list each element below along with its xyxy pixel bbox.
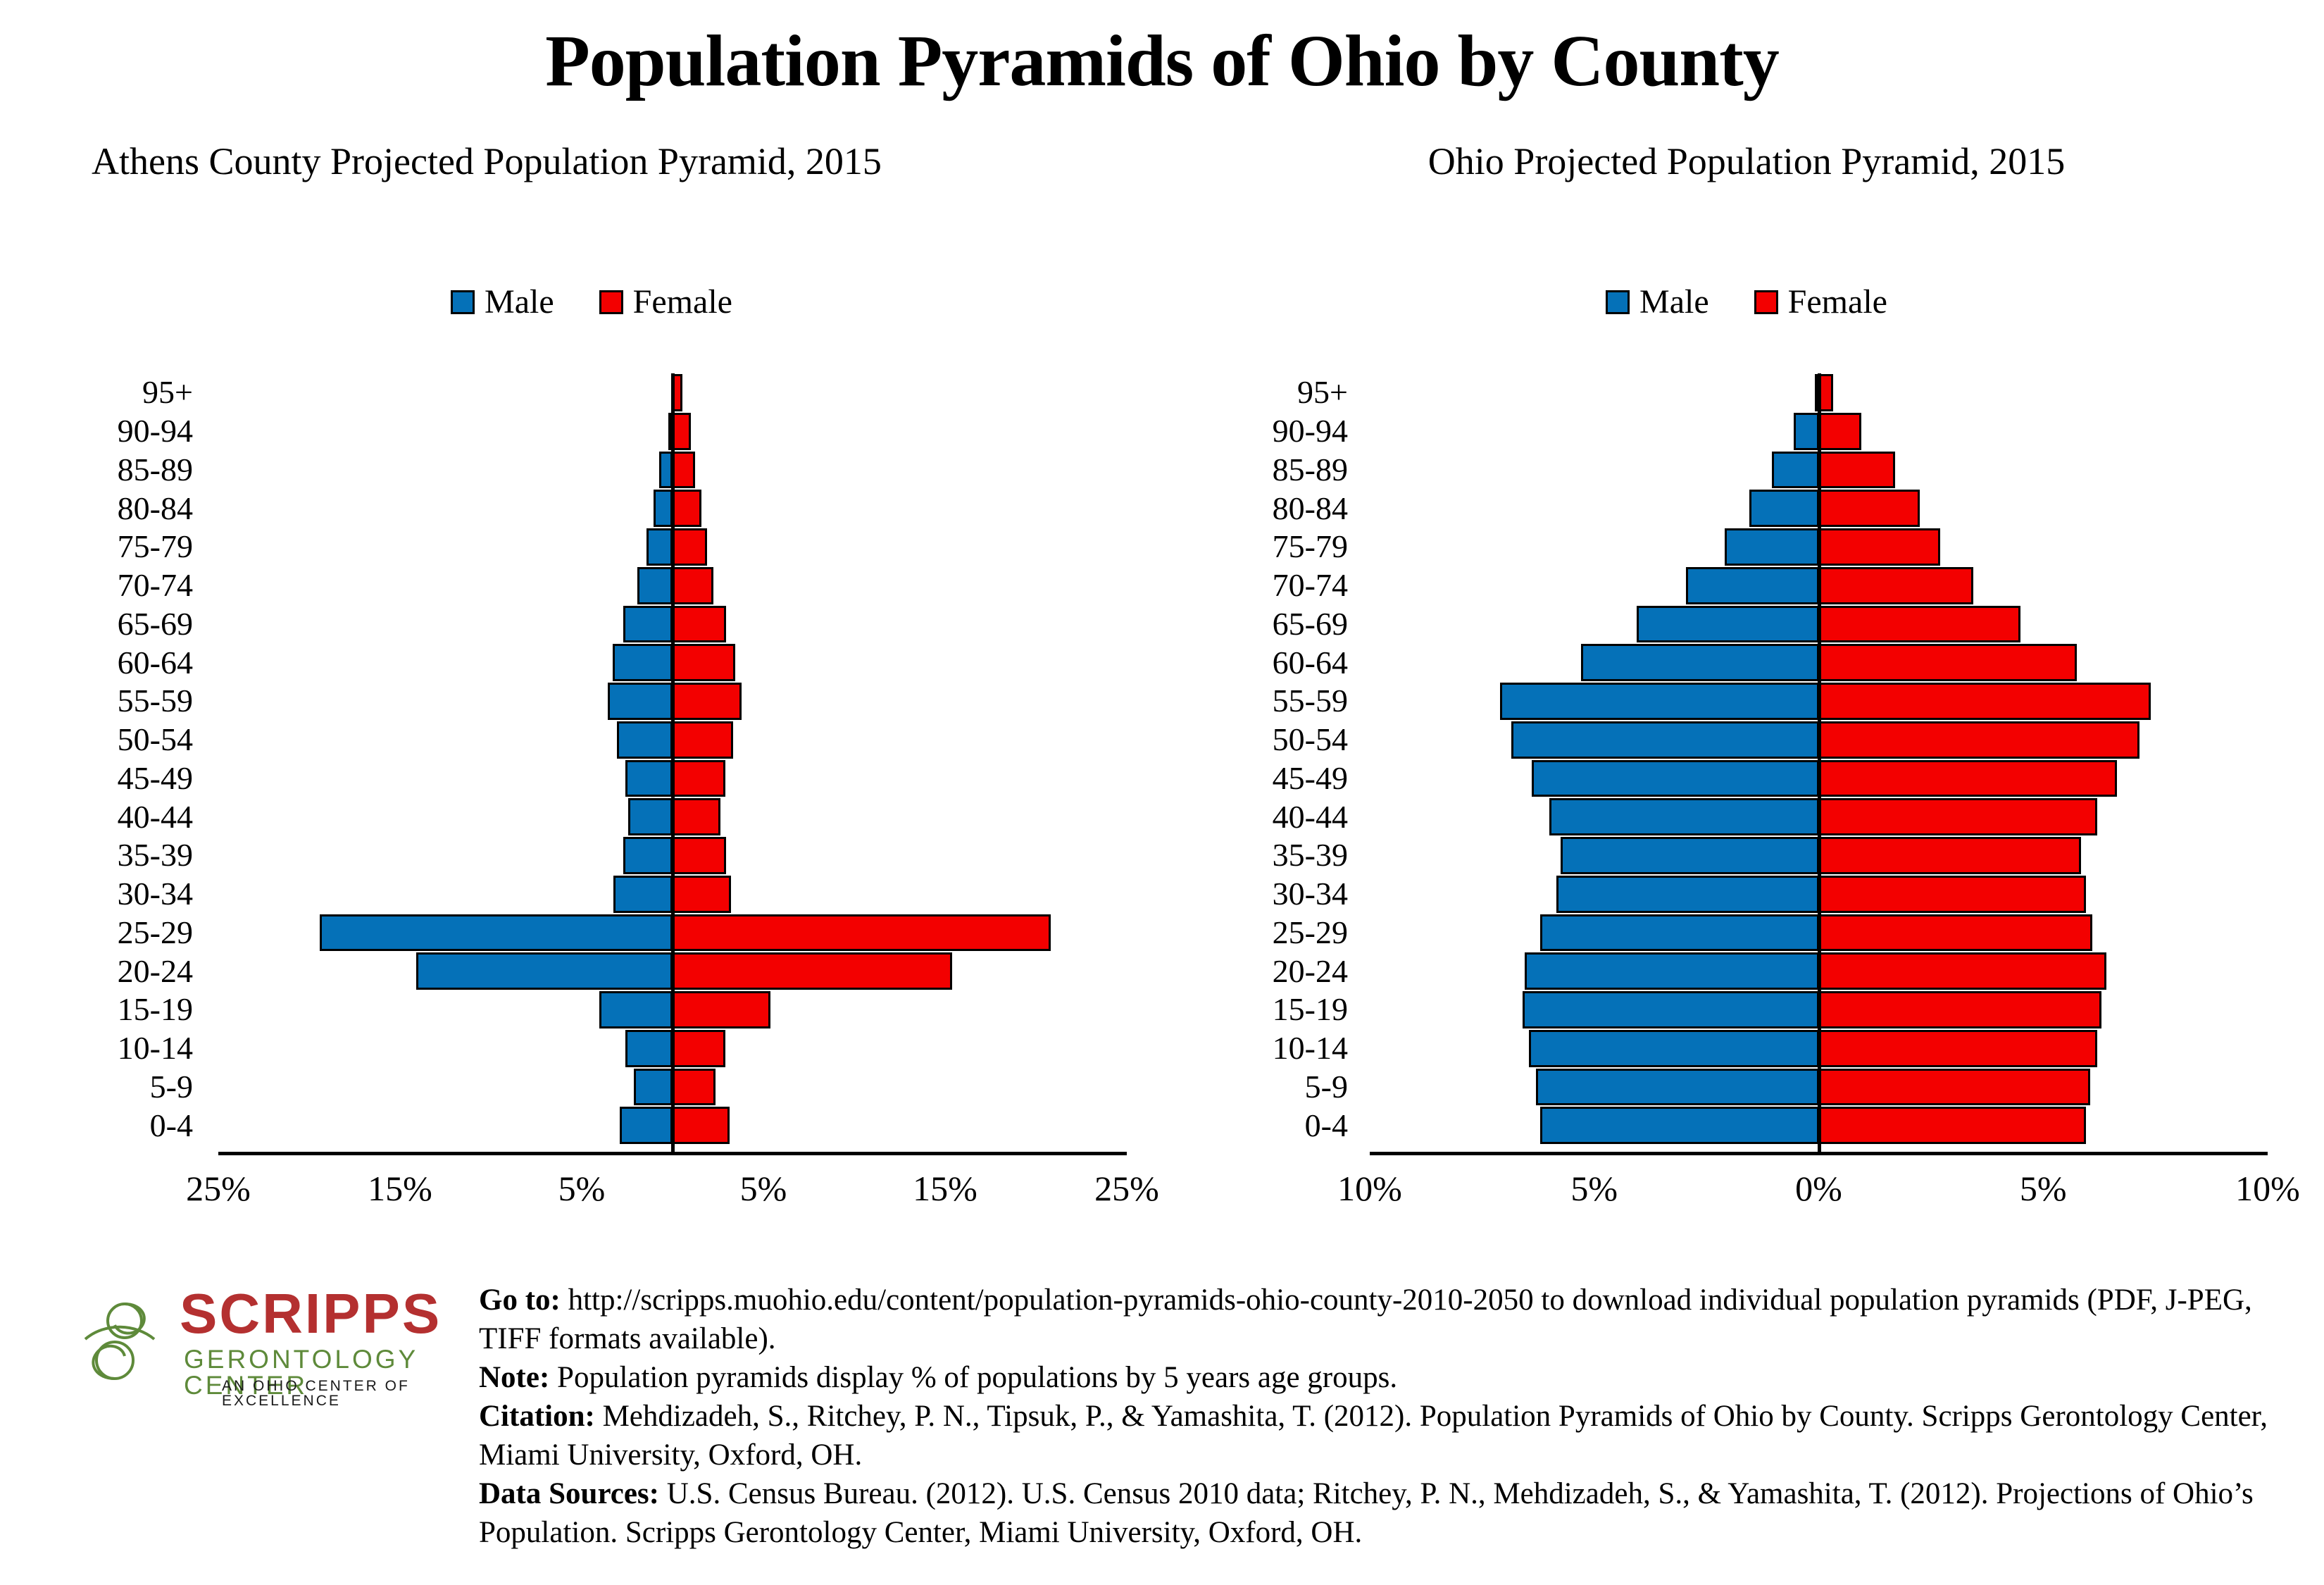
bar-female[interactable] (673, 1107, 730, 1144)
bar-female[interactable] (673, 413, 691, 450)
bar-male[interactable] (1536, 1069, 1819, 1106)
legend-label-female: Female (1788, 285, 1887, 319)
age-label: 25-29 (1211, 914, 1359, 952)
x-tick-label: 15% (913, 1171, 977, 1206)
bar-male[interactable] (599, 991, 673, 1028)
age-label: 45-49 (1211, 759, 1359, 798)
bar-female[interactable] (1819, 837, 2082, 874)
x-tick-label: 5% (740, 1171, 787, 1206)
age-label: 75-79 (56, 528, 204, 566)
age-label: 85-89 (1211, 451, 1359, 490)
bar-male[interactable] (654, 490, 673, 527)
legend-label-male: Male (1639, 285, 1709, 319)
legend-swatch-female-icon (1754, 290, 1778, 314)
bar-female[interactable] (1819, 1107, 2086, 1144)
plot-area-athens (218, 373, 1127, 1155)
bar-female[interactable] (673, 991, 770, 1028)
bar-female[interactable] (673, 876, 731, 913)
legend-label-male: Male (485, 285, 554, 319)
age-label: 55-59 (1211, 682, 1359, 721)
bar-male[interactable] (637, 567, 673, 604)
bar-female[interactable] (1819, 798, 2097, 835)
x-tick-label: 0% (1795, 1171, 1842, 1206)
bar-male[interactable] (628, 798, 673, 835)
age-label: 5-9 (56, 1068, 204, 1107)
note-label: Note: (479, 1361, 549, 1394)
bar-female[interactable] (1819, 952, 2106, 990)
bar-male[interactable] (1772, 452, 1819, 489)
datasources-text: U.S. Census Bureau. (2012). U.S. Census … (479, 1477, 2254, 1549)
center-axis-line-ohio (1818, 373, 1821, 1152)
age-label: 70-74 (1211, 566, 1359, 605)
citation-text: Mehdizadeh, S., Ritchey, P. N., Tipsuk, … (479, 1400, 2268, 1472)
bar-female[interactable] (1819, 606, 2021, 643)
age-label: 50-54 (56, 721, 204, 759)
age-label: 95+ (1211, 373, 1359, 412)
bar-male[interactable] (646, 528, 673, 566)
bar-female[interactable] (1819, 528, 1940, 566)
age-label: 60-64 (1211, 643, 1359, 682)
age-label: 50-54 (1211, 721, 1359, 759)
bar-female[interactable] (673, 606, 726, 643)
x-tick-label: 15% (368, 1171, 432, 1206)
age-label: 70-74 (56, 566, 204, 605)
bar-female[interactable] (673, 683, 742, 720)
baseline-athens (218, 1152, 1127, 1155)
bar-female[interactable] (1819, 644, 2078, 681)
age-label: 65-69 (56, 605, 204, 644)
datasources-line: Data Sources: U.S. Census Bureau. (2012)… (479, 1474, 2282, 1552)
bar-female[interactable] (673, 721, 733, 759)
x-tick-label: 5% (1570, 1171, 1618, 1206)
x-tick-label: 25% (1094, 1171, 1159, 1206)
age-label: 30-34 (56, 875, 204, 914)
goto-label: Go to: (479, 1283, 561, 1317)
page-title: Population Pyramids of Ohio by County (0, 21, 2324, 101)
chart-panel-athens: Athens County Projected Population Pyram… (42, 141, 1141, 1282)
age-label: 75-79 (1211, 528, 1359, 566)
baseline-ohio (1370, 1152, 2268, 1155)
bar-male[interactable] (613, 876, 673, 913)
age-label: 40-44 (1211, 797, 1359, 836)
bar-male[interactable] (1540, 914, 1818, 952)
age-label: 35-39 (56, 836, 204, 875)
bar-male[interactable] (1532, 760, 1819, 797)
bar-male[interactable] (634, 1069, 673, 1106)
legend-swatch-female-icon (599, 290, 623, 314)
bar-male[interactable] (617, 721, 673, 759)
bar-male[interactable] (1549, 798, 1819, 835)
bar-female[interactable] (673, 952, 952, 990)
scripps-wordmark: SCRIPPS (180, 1286, 442, 1342)
bar-male[interactable] (625, 760, 673, 797)
age-label: 20-24 (56, 952, 204, 990)
legend-ohio: Male Female (1197, 285, 2296, 319)
x-tick-label: 25% (186, 1171, 251, 1206)
scripps-tagline: AN OHIO CENTER OF EXCELLENCE (222, 1379, 461, 1408)
bar-male[interactable] (1529, 1030, 1818, 1067)
citation-label: Citation: (479, 1400, 595, 1433)
x-tick-label: 5% (2020, 1171, 2067, 1206)
bar-male[interactable] (1581, 644, 1819, 681)
legend-item-female[interactable]: Female (1754, 285, 1887, 319)
age-label: 40-44 (56, 797, 204, 836)
footer: SCRIPPS GERONTOLOGY CENTER AN OHIO CENTE… (0, 1268, 2324, 1585)
bar-female[interactable] (673, 528, 707, 566)
bar-male[interactable] (1561, 837, 1819, 874)
legend-swatch-male-icon (1606, 290, 1630, 314)
bar-female[interactable] (673, 452, 695, 489)
bar-male[interactable] (1794, 413, 1818, 450)
bar-female[interactable] (1819, 413, 1862, 450)
bar-female[interactable] (673, 914, 1051, 952)
bar-female[interactable] (1819, 991, 2102, 1028)
bar-female[interactable] (1819, 683, 2151, 720)
bar-male[interactable] (1511, 721, 1819, 759)
bar-female[interactable] (1819, 876, 2086, 913)
goto-text[interactable]: http://scripps.muohio.edu/content/popula… (479, 1283, 2252, 1355)
bar-male[interactable] (1749, 490, 1819, 527)
bar-female[interactable] (1819, 490, 1920, 527)
bar-male[interactable] (1686, 567, 1818, 604)
bar-female[interactable] (1819, 760, 2118, 797)
age-label: 45-49 (56, 759, 204, 798)
bar-female[interactable] (673, 760, 725, 797)
note-text: Population pyramids display % of populat… (557, 1361, 1397, 1394)
bar-male[interactable] (1637, 606, 1818, 643)
bar-male[interactable] (623, 606, 673, 643)
age-label: 20-24 (1211, 952, 1359, 990)
bar-female[interactable] (673, 490, 701, 527)
age-label: 65-69 (1211, 605, 1359, 644)
bar-female[interactable] (673, 798, 720, 835)
note-line: Note: Population pyramids display % of p… (479, 1358, 2282, 1397)
age-axis-athens: 95+90-9485-8980-8475-7970-7465-6960-6455… (56, 373, 204, 1145)
scripps-logo: SCRIPPS GERONTOLOGY CENTER AN OHIO CENTE… (81, 1286, 461, 1405)
x-tick-label: 5% (558, 1171, 606, 1206)
age-label: 60-64 (56, 643, 204, 682)
age-label: 5-9 (1211, 1068, 1359, 1107)
bar-male[interactable] (608, 683, 673, 720)
bar-female[interactable] (673, 837, 726, 874)
age-label: 55-59 (56, 682, 204, 721)
bar-male[interactable] (1556, 876, 1819, 913)
bar-male[interactable] (625, 1030, 673, 1067)
scripps-swirl-icon (81, 1295, 173, 1387)
age-label: 95+ (56, 373, 204, 412)
bar-male[interactable] (1525, 952, 1819, 990)
x-tick-label: 10% (2235, 1171, 2300, 1206)
bar-male[interactable] (1523, 991, 1819, 1028)
bar-female[interactable] (1819, 452, 1895, 489)
age-label: 15-19 (1211, 990, 1359, 1029)
footer-notes: Go to: http://scripps.muohio.edu/content… (479, 1281, 2282, 1552)
chart-title-ohio: Ohio Projected Population Pyramid, 2015 (1197, 141, 2296, 182)
bar-male[interactable] (1500, 683, 1819, 720)
bar-female[interactable] (673, 644, 735, 681)
bar-female[interactable] (673, 1069, 716, 1106)
age-label: 35-39 (1211, 836, 1359, 875)
age-label: 30-34 (1211, 875, 1359, 914)
chart-title-athens: Athens County Projected Population Pyram… (42, 141, 1141, 182)
bar-male[interactable] (1725, 528, 1819, 566)
goto-line: Go to: http://scripps.muohio.edu/content… (479, 1281, 2282, 1358)
chart-panel-ohio: Ohio Projected Population Pyramid, 2015 … (1197, 141, 2296, 1282)
age-label: 90-94 (1211, 412, 1359, 451)
datasources-label: Data Sources: (479, 1477, 659, 1510)
bar-female[interactable] (1819, 914, 2093, 952)
bar-male[interactable] (1540, 1107, 1818, 1144)
bar-male[interactable] (613, 644, 673, 681)
legend-swatch-male-icon (451, 290, 475, 314)
bar-female[interactable] (1819, 1069, 2091, 1106)
legend-item-female[interactable]: Female (599, 285, 732, 319)
bar-female[interactable] (1819, 1030, 2097, 1067)
x-tick-label: 10% (1337, 1171, 1402, 1206)
age-label: 25-29 (56, 914, 204, 952)
age-label: 10-14 (56, 1029, 204, 1068)
bar-male[interactable] (320, 914, 673, 952)
bar-female[interactable] (1819, 721, 2140, 759)
bar-female[interactable] (673, 567, 713, 604)
bar-female[interactable] (673, 1030, 725, 1067)
citation-line: Citation: Mehdizadeh, S., Ritchey, P. N.… (479, 1397, 2282, 1474)
age-label: 0-4 (1211, 1106, 1359, 1145)
age-label: 10-14 (1211, 1029, 1359, 1068)
x-axis-ticks-ohio: 10%5%0%5%10% (1370, 1171, 2268, 1220)
bar-male[interactable] (416, 952, 673, 990)
plot-area-ohio (1370, 373, 2268, 1155)
legend-item-male[interactable]: Male (451, 285, 554, 319)
age-label: 0-4 (56, 1106, 204, 1145)
x-axis-ticks-athens: 25%15%5%5%15%25% (218, 1171, 1127, 1220)
age-label: 80-84 (1211, 489, 1359, 528)
age-label: 85-89 (56, 451, 204, 490)
legend-athens: Male Female (42, 285, 1141, 319)
bar-male[interactable] (620, 1107, 673, 1144)
center-axis-line-athens (671, 373, 675, 1152)
bar-female[interactable] (1819, 567, 1974, 604)
bar-male[interactable] (623, 837, 673, 874)
bar-female[interactable] (1819, 374, 1833, 411)
legend-label-female: Female (633, 285, 732, 319)
age-label: 15-19 (56, 990, 204, 1029)
age-axis-ohio: 95+90-9485-8980-8475-7970-7465-6960-6455… (1211, 373, 1359, 1145)
poster-page: Population Pyramids of Ohio by County At… (0, 0, 2324, 1585)
age-label: 90-94 (56, 412, 204, 451)
legend-item-male[interactable]: Male (1606, 285, 1709, 319)
age-label: 80-84 (56, 489, 204, 528)
